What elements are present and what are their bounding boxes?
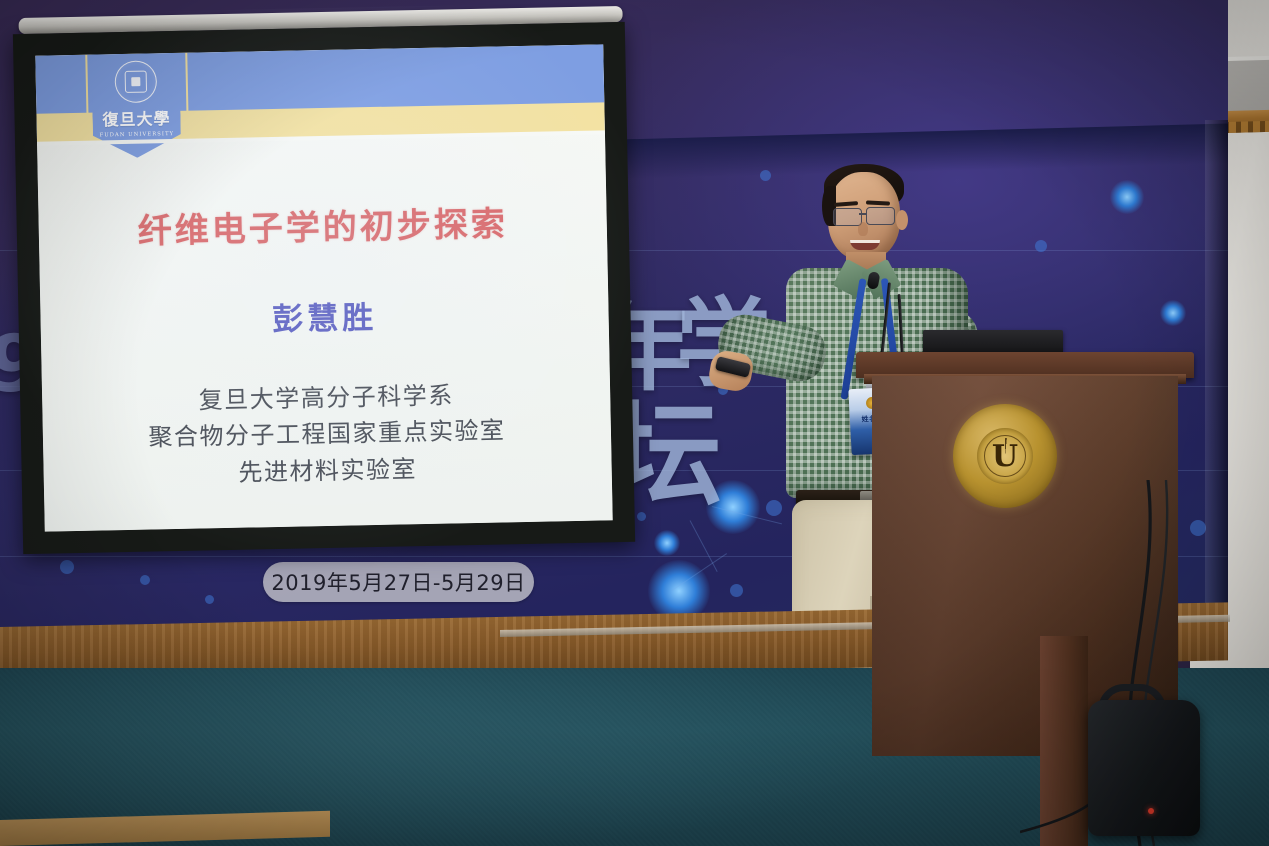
presentation-slide: 復旦大學 FUDAN UNIVERSITY 纤维电子学的初步探索 彭慧胜 复旦大…: [35, 44, 612, 531]
screen-frame: 復旦大學 FUDAN UNIVERSITY 纤维电子学的初步探索 彭慧胜 复旦大…: [13, 22, 635, 554]
molecule-dot: [140, 575, 150, 585]
slide-author: 彭慧胜: [40, 287, 609, 343]
molecule-node: [1110, 180, 1144, 214]
speaker-nose: [858, 222, 868, 236]
slide-affiliations: 复旦大学高分子科学系 聚合物分子工程国家重点实验室 先进材料实验室: [42, 374, 612, 495]
podium-laptop[interactable]: [923, 330, 1063, 354]
molecule-dot: [60, 560, 74, 574]
glasses-lens-left: [833, 208, 862, 226]
fudan-name-cn: 復旦大學: [102, 105, 170, 130]
emblem-inner-disc: U: [977, 428, 1033, 484]
glasses-bridge: [859, 213, 867, 215]
emblem-letter: U: [992, 442, 1018, 472]
molecule-node: [1160, 300, 1186, 326]
fudan-seal-icon: [114, 60, 157, 103]
speaker-ear: [896, 210, 908, 230]
date-banner: 2019年5月27日-5月29日: [263, 562, 534, 602]
slide-title: 纤维电子学的初步探索: [38, 194, 607, 254]
screen-surface: 復旦大學 FUDAN UNIVERSITY 纤维电子学的初步探索 彭慧胜 复旦大…: [35, 44, 612, 531]
fudan-name-en: FUDAN UNIVERSITY: [100, 131, 175, 138]
presentation-scene: 9 年 学 坛 2019年5月27日-5月29日 復旦大學 FUDAN UNIV…: [0, 0, 1269, 846]
molecule-node: [654, 530, 680, 556]
molecule-dot: [205, 595, 214, 604]
device-led-indicator: [1148, 808, 1154, 814]
glasses-lens-right: [866, 207, 895, 225]
projection-screen: 復旦大學 FUDAN UNIVERSITY 纤维电子学的初步探索 彭慧胜 复旦大…: [13, 22, 635, 554]
backpack-bag: [1088, 700, 1200, 836]
